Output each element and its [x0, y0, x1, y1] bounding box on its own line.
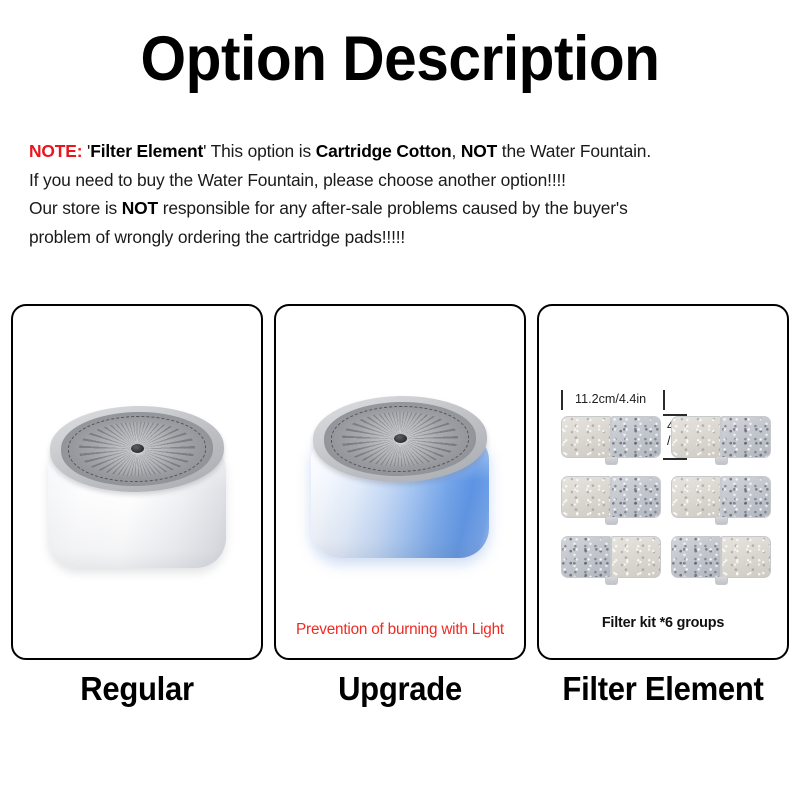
cartridge-tab	[715, 457, 728, 465]
cartridge-tab	[605, 577, 618, 585]
water-fountain-upgrade-image	[297, 382, 503, 568]
option-panels: Prevention of burning with Light 11.2cm/…	[11, 304, 789, 660]
note-line3-post: responsible for any after-sale problems …	[158, 198, 628, 218]
note-line3-pre: Our store is	[29, 198, 122, 218]
note-line-4: problem of wrongly ordering the cartridg…	[29, 223, 781, 252]
note-not-term-2: NOT	[122, 198, 158, 218]
note-line1-mid: ' This option is	[203, 141, 316, 161]
note-cartridge-cotton-term: Cartridge Cotton	[316, 141, 452, 161]
cartridge-half-carbon	[671, 536, 721, 578]
width-tick-left-icon	[561, 390, 563, 410]
note-line-1: NOTE: 'Filter Element' This option is Ca…	[29, 137, 781, 166]
dimension-width-label: 11.2cm/4.4in	[575, 392, 646, 406]
note-line-2: If you need to buy the Water Fountain, p…	[29, 166, 781, 195]
width-tick-right-icon	[663, 390, 665, 410]
cartridge-half-cotton	[561, 416, 611, 458]
fountain-spout-hole	[394, 434, 407, 443]
water-fountain-regular-image	[34, 392, 240, 578]
fountain-spout-hole	[131, 444, 144, 453]
filter-cartridge	[561, 536, 661, 578]
cartridge-tab	[605, 517, 618, 525]
filter-cartridges-image: 11.2cm/4.4in 4.3 cm /1.7in	[553, 386, 777, 586]
led-overlay-caption: Prevention of burning with Light	[276, 621, 524, 639]
note-filter-element-term: Filter Element	[90, 141, 203, 161]
filter-cartridge	[671, 476, 771, 518]
cartridge-tab	[605, 457, 618, 465]
note-line1-end: the Water Fountain.	[497, 141, 651, 161]
option-panel-regular[interactable]	[11, 304, 263, 660]
filter-cartridge	[561, 476, 661, 518]
option-captions: Regular Upgrade Filter Element	[11, 670, 789, 720]
cartridge-half-carbon	[721, 476, 771, 518]
cartridge-half-carbon	[721, 416, 771, 458]
filter-cartridge	[671, 536, 771, 578]
filter-cartridge-grid	[561, 416, 773, 590]
cartridge-tab	[715, 577, 728, 585]
filter-kit-label: Filter kit *6 groups	[539, 615, 787, 631]
cartridge-half-cotton	[671, 416, 721, 458]
page-title: Option Description	[28, 26, 772, 92]
cartridge-half-carbon	[561, 536, 611, 578]
note-block: NOTE: 'Filter Element' This option is Ca…	[29, 137, 781, 251]
option-panel-filter-element[interactable]: 11.2cm/4.4in 4.3 cm /1.7in	[537, 304, 789, 660]
note-label: NOTE:	[29, 141, 82, 161]
caption-regular: Regular	[19, 670, 256, 708]
cartridge-half-carbon	[611, 416, 661, 458]
cartridge-half-cotton	[721, 536, 771, 578]
cartridge-half-cotton	[611, 536, 661, 578]
caption-upgrade: Upgrade	[282, 670, 519, 708]
note-not-term-1: NOT	[461, 141, 497, 161]
caption-filter-element: Filter Element	[545, 670, 782, 708]
cartridge-tab	[715, 517, 728, 525]
note-line1-comma: ,	[451, 141, 460, 161]
option-panel-upgrade[interactable]: Prevention of burning with Light	[274, 304, 526, 660]
filter-cartridge	[671, 416, 771, 458]
cartridge-half-carbon	[611, 476, 661, 518]
filter-cartridge	[561, 416, 661, 458]
note-line-3: Our store is NOT responsible for any aft…	[29, 194, 781, 223]
cartridge-half-cotton	[561, 476, 611, 518]
cartridge-half-cotton	[671, 476, 721, 518]
